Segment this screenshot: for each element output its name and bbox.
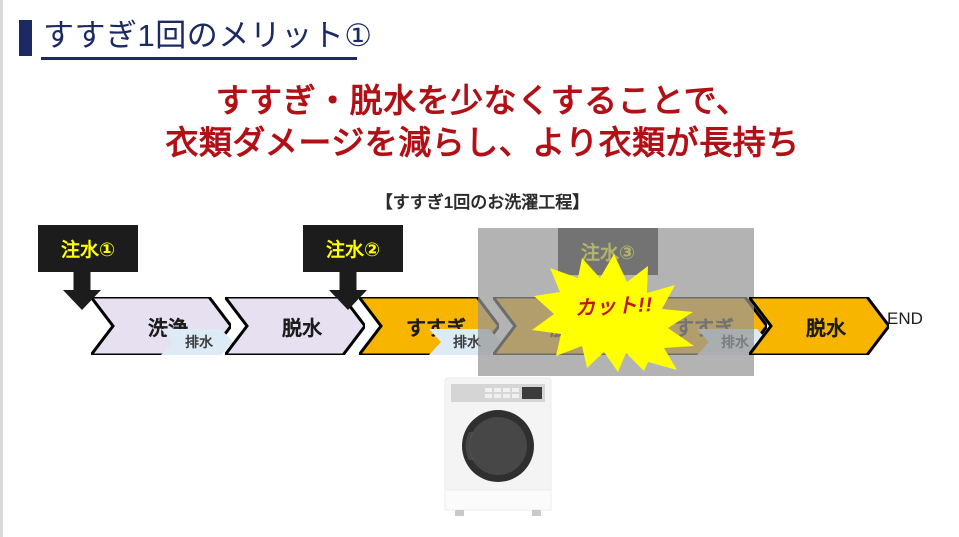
flow-step-label: 脱水: [749, 312, 889, 341]
inject-arrow-1: [55, 270, 109, 310]
flow-step-spin-final[interactable]: 脱水: [749, 297, 889, 355]
slide-canvas: すすぎ1回のメリット① すすぎ・脱水を少なくすることで、 衣類ダメージを減らし、…: [0, 0, 959, 537]
flow-step-label: 脱水: [225, 312, 365, 341]
drain-label: 排水: [449, 332, 481, 352]
flow-step-washing[interactable]: 洗浄 排水: [91, 297, 231, 355]
drum-washing-machine-icon: [439, 372, 557, 524]
inject-label-2: 注水②: [326, 235, 380, 262]
inject-box-1: 注水①: [38, 225, 138, 272]
end-label: END: [887, 309, 923, 329]
inject-label-1: 注水①: [61, 235, 115, 262]
drain-label: 排水: [181, 332, 213, 352]
drain-badge: 排水: [161, 329, 233, 355]
inject-box-2: 注水②: [303, 225, 403, 272]
inject-arrow-2: [321, 270, 375, 310]
